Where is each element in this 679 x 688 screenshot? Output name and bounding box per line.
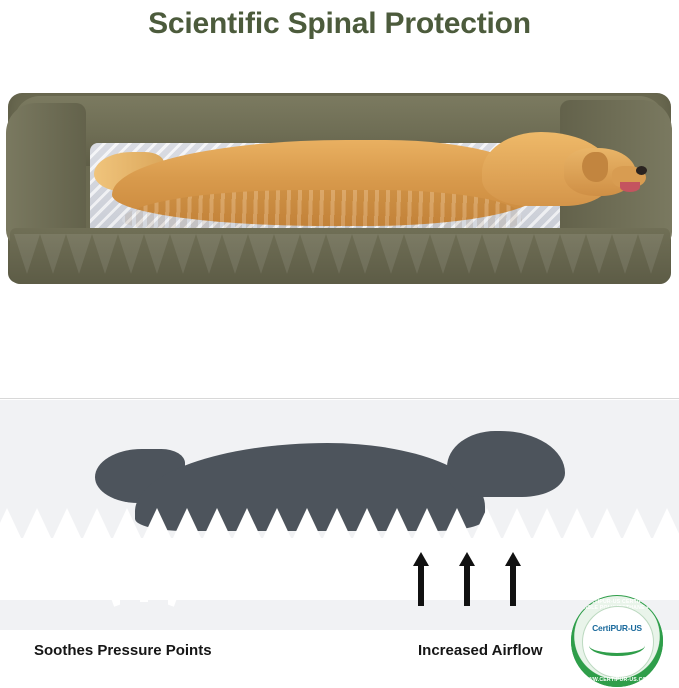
pressure-arrow-icon [98,555,120,607]
foam-diagram: Soothes Pressure Points Increased Airflo… [0,400,679,688]
mattress-front-quilting [10,228,670,284]
airflow-arrow-icon [458,552,476,606]
golden-retriever-dog [112,126,632,231]
badge-title: CertiPUR-US [571,623,663,633]
dog-nose [636,166,647,175]
dog-ear [582,152,608,182]
badge-swoosh-icon [589,635,645,656]
certipur-us-badge: CERTIPUR-US CERTIFIED FLEXIBLE POLYURETH… [571,595,663,687]
page-title: Scientific Spinal Protection [0,0,679,48]
pressure-arrow-icon [168,555,190,607]
airflow-arrow-icon [412,552,430,606]
hardness-scale: Too soft 1 Lack of support Moderate hard… [0,285,679,390]
silhouette-head [447,431,565,497]
pressure-points-label: Soothes Pressure Points [34,642,212,659]
product-photo [0,48,679,285]
section-divider [0,398,679,399]
bed-left-bolster [6,103,86,248]
airflow-arrow-icon [504,552,522,606]
badge-bottom-text: WWW.CERTIPUR-US.COM [571,677,663,683]
airflow-label: Increased Airflow [418,642,542,659]
dog-tongue [620,182,640,192]
dog-body [112,140,542,226]
pressure-arrow-icon [133,550,155,602]
